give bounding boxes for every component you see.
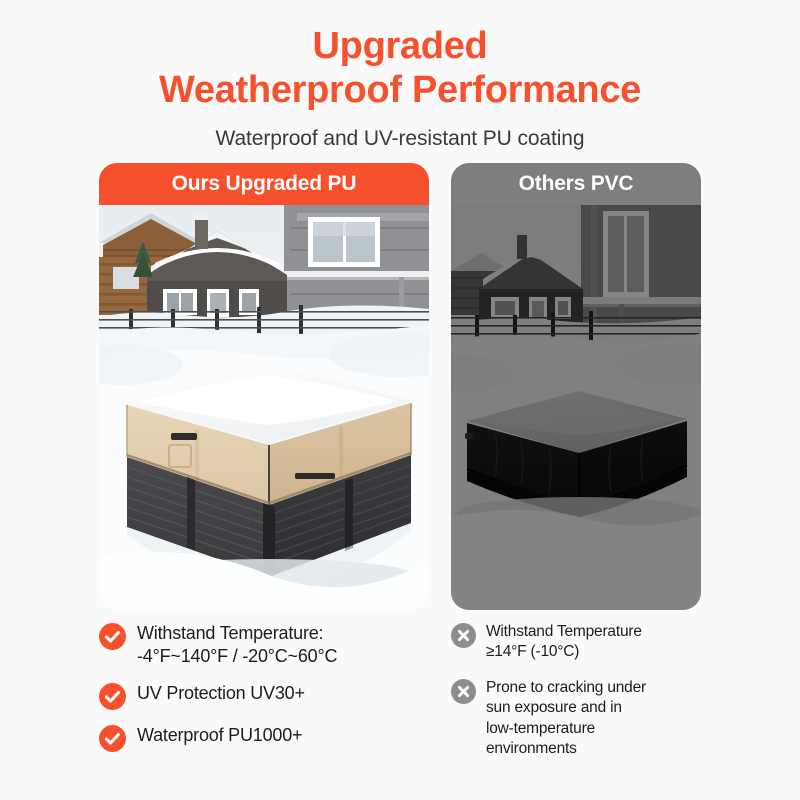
comparison-row: Ours Upgraded PU	[0, 163, 800, 610]
comparison-card-others: Others PVC	[451, 163, 701, 610]
bullet-text: Waterproof PU1000+	[137, 724, 302, 747]
product-photo-others	[451, 205, 701, 610]
card-heading-others: Others PVC	[451, 163, 701, 205]
page-header: Upgraded Weatherproof Performance Waterp…	[0, 0, 800, 151]
bullet-list-ours: Withstand Temperature: -4°F~140°F / -20°…	[99, 622, 429, 775]
bullet-lists: Withstand Temperature: -4°F~140°F / -20°…	[0, 622, 800, 775]
x-icon	[451, 623, 476, 648]
bullet-item: Prone to cracking under sun exposure and…	[451, 678, 701, 759]
page-title-line-2: Weatherproof Performance	[0, 68, 800, 112]
x-icon	[451, 679, 476, 704]
bullet-item: UV Protection UV30+	[99, 682, 429, 710]
bullet-text: Prone to cracking under sun exposure and…	[486, 678, 646, 759]
card-heading-ours: Ours Upgraded PU	[99, 163, 429, 205]
bullet-item: Withstand Temperature: -4°F~140°F / -20°…	[99, 622, 429, 668]
comparison-card-ours: Ours Upgraded PU	[99, 163, 429, 610]
product-photo-ours	[99, 205, 429, 610]
check-icon	[99, 683, 126, 710]
check-icon	[99, 725, 126, 752]
page-title-line-1: Upgraded	[0, 24, 800, 68]
bullet-text: UV Protection UV30+	[137, 682, 305, 705]
bullet-item: Withstand Temperature ≥14°F (-10°C)	[451, 622, 701, 662]
bullet-text: Withstand Temperature ≥14°F (-10°C)	[486, 622, 642, 662]
page-subtitle: Waterproof and UV-resistant PU coating	[0, 127, 800, 151]
check-icon	[99, 623, 126, 650]
bullet-list-others: Withstand Temperature ≥14°F (-10°C) Pron…	[451, 622, 701, 775]
bullet-text: Withstand Temperature: -4°F~140°F / -20°…	[137, 622, 337, 668]
bullet-item: Waterproof PU1000+	[99, 724, 429, 752]
